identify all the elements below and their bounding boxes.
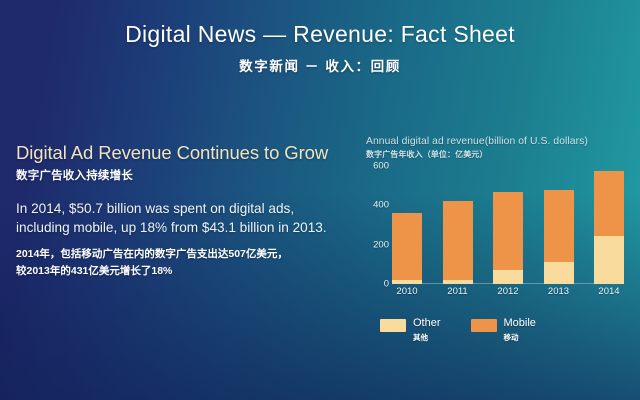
x-axis-tick: 2011 [443, 286, 473, 297]
y-axis-tick: 0 [384, 279, 389, 290]
bar-segment-other[interactable] [443, 280, 473, 284]
legend-swatch [471, 319, 497, 332]
bar-segment-mobile[interactable] [392, 213, 422, 280]
x-axis-tick: 2012 [493, 286, 523, 297]
lead-body-cn-line1: 2014年，包括移动广告在内的数字广告支出达507亿美元， [16, 246, 334, 263]
legend-label-cn: 移动 [504, 332, 536, 343]
lead-body-text: In 2014, $50.7 billion was spent on digi… [16, 199, 346, 238]
legend-label: Other [413, 318, 441, 330]
y-axis-tick: 200 [373, 239, 389, 250]
lead-headline: Digital Ad Revenue Continues to Grow [16, 143, 352, 164]
lead-body-text-cn: 2014年，包括移动广告在内的数字广告支出达507亿美元， 较2013年的431… [16, 246, 334, 280]
slide-canvas: Digital News — Revenue: Fact Sheet 数字新闻 … [0, 0, 640, 400]
legend-item[interactable]: Other其他 [380, 318, 441, 343]
legend-label-cn: 其他 [413, 332, 441, 343]
bar-segment-other[interactable] [544, 262, 574, 284]
bar-segment-other[interactable] [594, 236, 624, 284]
bar-group[interactable] [594, 166, 624, 284]
bar-group[interactable] [392, 166, 422, 284]
left-text-panel: Digital Ad Revenue Continues to Grow 数字广… [16, 143, 352, 280]
bar-stack[interactable] [443, 201, 473, 284]
x-axis-tick: 2013 [544, 286, 574, 297]
y-axis-tick: 600 [373, 161, 389, 172]
bar-segment-mobile[interactable] [443, 201, 473, 280]
bar-segment-other[interactable] [392, 280, 422, 284]
chart-panel: Annual digital ad revenue(billion of U.S… [366, 136, 628, 343]
x-axis-labels: 20102011201220132014 [392, 286, 624, 297]
chart-legend: Other其他Mobile移动 [380, 318, 628, 343]
y-axis-tick: 400 [373, 200, 389, 211]
bar-series-container [392, 166, 624, 284]
bar-group[interactable] [544, 166, 574, 284]
page-title: Digital News — Revenue: Fact Sheet [0, 22, 640, 47]
page-subtitle: 数字新闻 － 收入：回顾 [0, 55, 640, 75]
bar-chart-plot: 0200400600 20102011201220132014 [366, 166, 628, 296]
legend-label: Mobile [504, 318, 536, 330]
y-axis: 0200400600 [366, 166, 392, 284]
bar-stack[interactable] [544, 190, 574, 284]
chart-subtitle: 数字广告年收入（单位：亿美元） [366, 149, 628, 160]
legend-swatch [380, 319, 406, 332]
slide-header: Digital News — Revenue: Fact Sheet 数字新闻 … [0, 22, 640, 75]
bar-segment-mobile[interactable] [493, 192, 523, 271]
lead-body-cn-line2: 较2013年的431亿美元增长了18% [16, 263, 334, 280]
bar-stack[interactable] [493, 192, 523, 284]
bar-stack[interactable] [392, 213, 422, 284]
legend-label-group: Mobile移动 [504, 318, 536, 343]
bar-stack[interactable] [594, 171, 624, 284]
bar-group[interactable] [443, 166, 473, 284]
chart-title: Annual digital ad revenue(billion of U.S… [366, 136, 628, 147]
x-axis-tick: 2010 [392, 286, 422, 297]
bar-group[interactable] [493, 166, 523, 284]
bar-segment-mobile[interactable] [594, 171, 624, 236]
bar-segment-other[interactable] [493, 270, 523, 284]
x-axis-tick: 2014 [594, 286, 624, 297]
bar-segment-mobile[interactable] [544, 190, 574, 263]
legend-label-group: Other其他 [413, 318, 441, 343]
lead-headline-cn: 数字广告收入持续增长 [16, 167, 352, 183]
legend-item[interactable]: Mobile移动 [471, 318, 536, 343]
